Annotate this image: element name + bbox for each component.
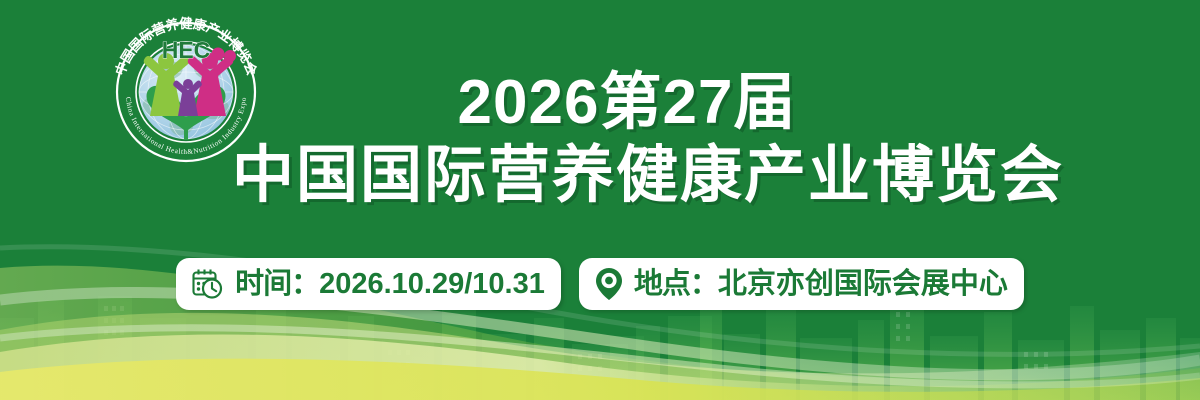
event-date-value: 2026.10.29/10.31 — [319, 268, 545, 300]
event-date-label: 时间： — [235, 268, 319, 300]
event-venue-pill[interactable]: 地点：北京亦创国际会展中心 — [579, 258, 1024, 310]
title-line-2: 中国国际营养健康产业博览会 — [232, 140, 1022, 212]
title-line-1: 2026第27届 — [232, 68, 1022, 138]
location-pin-icon — [593, 266, 625, 302]
event-date-pill[interactable]: 时间：2026.10.29/10.31 — [176, 258, 561, 310]
event-date-text: 时间：2026.10.29/10.31 — [235, 269, 545, 299]
banner-title: 2026第27届 中国国际营养健康产业博览会 — [232, 68, 1022, 212]
event-venue-value: 北京亦创国际会展中心 — [718, 268, 1008, 300]
event-venue-text: 地点：北京亦创国际会展中心 — [634, 269, 1008, 299]
logo-monogram: HEC — [162, 37, 211, 63]
calendar-clock-icon — [190, 266, 226, 302]
event-venue-label: 地点： — [634, 268, 718, 300]
event-info-row: 时间：2026.10.29/10.31 地点：北京亦创国际会展中心 — [0, 258, 1200, 310]
event-banner: 中国国际营养健康产业博览会 China International Health… — [0, 0, 1200, 400]
